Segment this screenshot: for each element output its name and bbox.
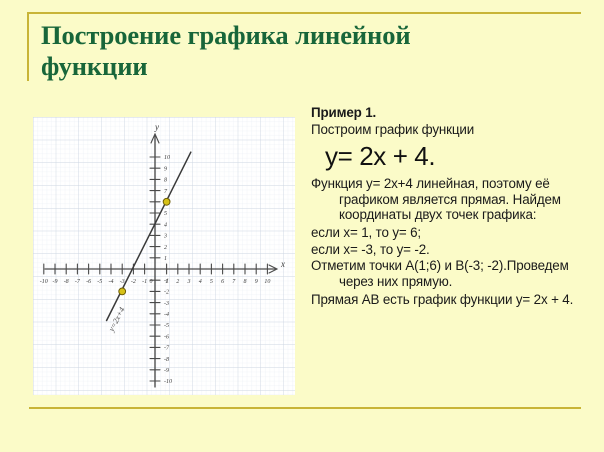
coordinate-plane-chart: -10 -9 -8 -7 -6 -5 -4 -3 -2 -1 0 1 2 3 4… <box>33 117 295 395</box>
svg-text:6: 6 <box>221 279 224 285</box>
svg-text:-10: -10 <box>164 379 172 385</box>
svg-text:8: 8 <box>244 279 247 285</box>
svg-text:10: 10 <box>264 279 270 285</box>
svg-text:-9: -9 <box>53 279 58 285</box>
svg-text:9: 9 <box>164 166 167 172</box>
svg-text:2: 2 <box>176 279 179 285</box>
text-panel: Пример 1. Построим график функции у= 2х … <box>311 105 583 309</box>
graph-image: -10 -9 -8 -7 -6 -5 -4 -3 -2 -1 0 1 2 3 4… <box>33 117 295 395</box>
intro-line: Построим график функции <box>311 122 583 138</box>
svg-text:-2: -2 <box>164 290 169 296</box>
y-axis-label: y <box>154 122 159 132</box>
svg-text:3: 3 <box>163 234 167 240</box>
svg-text:-6: -6 <box>86 279 91 285</box>
slide-canvas: Построение графика линейной функции <box>0 0 604 452</box>
svg-text:-5: -5 <box>164 323 169 329</box>
svg-text:4: 4 <box>199 278 202 285</box>
point-a-marker <box>163 198 170 205</box>
formula-heading: у= 2х + 4. <box>325 142 583 172</box>
svg-text:2: 2 <box>164 245 167 251</box>
paragraph-2: Отметим точки А(1;6) и В(-3; -2).Проведе… <box>311 258 583 289</box>
svg-text:-3: -3 <box>164 301 169 307</box>
svg-text:-1: -1 <box>164 278 169 284</box>
svg-text:-4: -4 <box>109 278 114 285</box>
svg-text:-9: -9 <box>164 368 169 374</box>
svg-text:-8: -8 <box>64 279 69 285</box>
svg-text:3: 3 <box>187 279 191 285</box>
svg-text:9: 9 <box>255 279 258 285</box>
paragraph-3: Прямая АВ есть график функции у= 2х + 4. <box>311 292 583 308</box>
svg-text:5: 5 <box>210 279 213 285</box>
svg-text:4: 4 <box>164 221 167 228</box>
svg-text:-6: -6 <box>164 334 169 340</box>
svg-text:-4: -4 <box>164 311 169 318</box>
svg-text:-10: -10 <box>40 279 48 285</box>
condition-1: если х= 1, то у= 6; <box>311 225 583 241</box>
svg-text:-5: -5 <box>97 279 102 285</box>
page-title: Построение графика линейной функции <box>41 20 581 81</box>
svg-text:5: 5 <box>164 211 167 217</box>
svg-text:-3: -3 <box>120 279 125 285</box>
x-axis-label: x <box>280 259 285 269</box>
svg-text:8: 8 <box>164 178 167 184</box>
title-block: Построение графика линейной функции <box>27 12 581 81</box>
point-b-marker <box>119 288 126 295</box>
paragraph-1: Функция у= 2х+4 линейная, поэтому её гра… <box>311 176 583 223</box>
example-label: Пример 1. <box>311 105 583 121</box>
svg-text:-2: -2 <box>131 279 136 285</box>
svg-text:10: 10 <box>164 155 170 161</box>
condition-2: если х= -3, то у= -2. <box>311 242 583 258</box>
svg-text:1: 1 <box>164 256 167 262</box>
svg-text:-8: -8 <box>164 357 169 363</box>
bottom-divider <box>29 407 581 409</box>
svg-text:0: 0 <box>150 279 153 285</box>
svg-text:-1: -1 <box>142 279 147 285</box>
